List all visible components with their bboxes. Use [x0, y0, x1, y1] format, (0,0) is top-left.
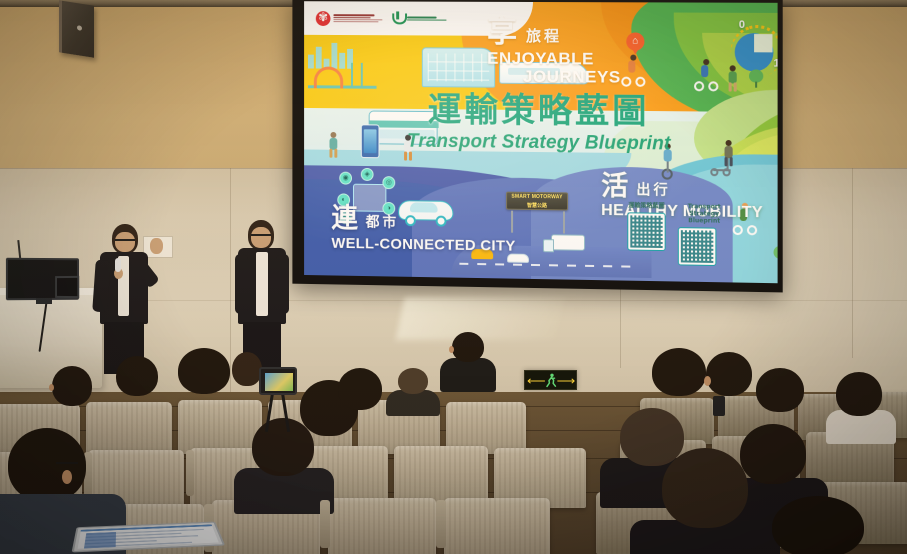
pillar-enjoyable-cn-big: 享 [487, 18, 517, 48]
presenter-left [90, 224, 176, 374]
lectern-secondary-monitor [55, 276, 79, 298]
audience-head [652, 348, 706, 396]
pillar-connected-en: WELL-CONNECTED CITY [331, 235, 515, 255]
audience-head [662, 448, 748, 528]
tree-illustration [773, 246, 777, 264]
transport-department-logo [391, 11, 446, 25]
eyeglasses [56, 462, 78, 464]
pillar-enjoyable-cn-small: 旅程 [526, 29, 562, 48]
smart-motorway-cn: 智慧公路 [507, 202, 567, 211]
audience-head [252, 418, 314, 476]
seat[interactable] [328, 498, 436, 554]
presentation-slide: 0 15 ⌂ ▮ [304, 1, 777, 283]
hksar-logo [316, 11, 383, 26]
pillar-well-connected-city: 連 都市 WELL-CONNECTED CITY [331, 205, 515, 255]
audience-head [8, 428, 86, 502]
qr-caption-en: Transport Strategy Blueprint [678, 204, 731, 226]
raised-hand [150, 238, 163, 254]
seat[interactable] [86, 402, 172, 456]
home-pin-icon: ⌂ [626, 32, 644, 56]
audience-head [620, 408, 684, 466]
attendee-phone[interactable] [713, 396, 725, 416]
qr-code-en[interactable]: Transport Strategy Blueprint [678, 204, 731, 266]
pillar-enjoyable-journeys: 享 旅程 ENJOYABLE JOURNEYS [487, 18, 621, 88]
video-camera[interactable] [259, 367, 297, 395]
audience-head [116, 356, 158, 396]
audience-head [706, 352, 752, 396]
wall-seam [852, 168, 853, 358]
wall-seam [230, 168, 231, 394]
audience-head [178, 348, 230, 394]
audience-head [772, 496, 864, 554]
pillar-enjoyable-en1: ENJOYABLE [487, 50, 621, 69]
audience-head [52, 366, 92, 406]
projection-screen[interactable]: 0 15 ⌂ ▮ [292, 0, 782, 292]
pillar-connected-cn-small: 都市 [366, 216, 399, 233]
truck-illustration [551, 234, 585, 251]
cyclist-illustration [621, 69, 645, 87]
emergency-exit-sign: ⟵ ⟶ [524, 370, 577, 390]
transport-department-icon [391, 11, 404, 25]
terminal-building-illustration [422, 47, 495, 87]
pillar-enjoyable-en2: JOURNEYS [523, 68, 621, 87]
clock-start-label: 0 [739, 19, 745, 31]
audience-head [756, 368, 804, 412]
wall-speaker [59, 0, 94, 58]
qr-code-cn[interactable]: 運輸策略藍圖 [627, 203, 665, 265]
smart-motorway-en: SMART MOTORWAY [507, 193, 567, 203]
audience-head [398, 368, 428, 394]
audience-head [338, 368, 382, 410]
slide-title-cn: 運輸策略藍圖 [304, 92, 777, 132]
audience-head [232, 352, 262, 386]
audience-head [452, 332, 484, 362]
bauhinia-icon [316, 11, 331, 26]
auditorium-scene: ⟵ ⟶ [0, 0, 907, 554]
camera-preview-screen [265, 373, 293, 391]
qr-code-panel: 運輸策略藍圖 Transport Strategy Blueprint [619, 199, 739, 272]
tree-illustration [749, 69, 763, 87]
presenter-right [234, 220, 294, 372]
pillar-healthy-cn-small: 出行 [636, 183, 670, 201]
qr-caption-cn: 運輸策略藍圖 [627, 203, 665, 210]
car-illustration [507, 254, 529, 263]
exit-left-arrow-icon: ⟵ [527, 374, 546, 387]
pedestrian-illustration [727, 65, 739, 91]
laptop-screen [78, 524, 219, 548]
slide-main-title: 運輸策略藍圖 Transport Strategy Blueprint [304, 92, 777, 156]
running-man-icon [546, 373, 557, 388]
pillar-connected-cn-big: 連 [331, 205, 357, 232]
seat[interactable] [444, 498, 550, 554]
exit-right-arrow-icon: ⟶ [557, 374, 576, 387]
clock-end-label: 15 [773, 57, 777, 69]
audience-shoulders [440, 358, 496, 392]
pillar-healthy-cn-big: 活 [601, 173, 628, 200]
seat[interactable] [178, 400, 262, 454]
microphone-icon [115, 258, 121, 272]
audience-head [836, 372, 882, 416]
audience-head [740, 424, 806, 484]
bridge-illustration [308, 61, 377, 95]
cyclist-illustration [694, 73, 718, 91]
